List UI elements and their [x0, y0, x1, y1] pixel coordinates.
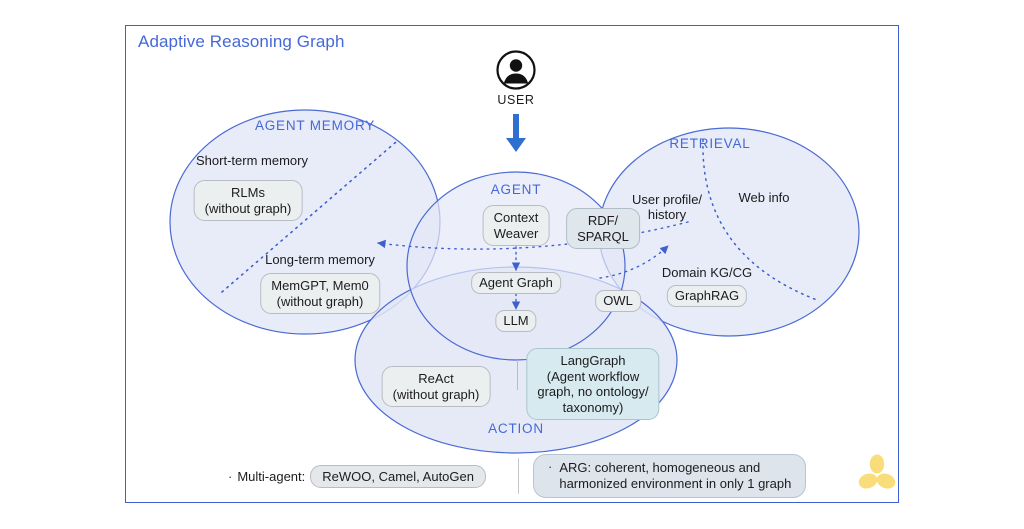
legend-divider: [518, 458, 519, 494]
node-react[interactable]: ReAct (without graph): [382, 366, 491, 407]
set-label-action: ACTION: [488, 421, 544, 436]
user-label: USER: [497, 93, 534, 107]
node-rlms[interactable]: RLMs (without graph): [194, 180, 303, 221]
set-label-agent: AGENT: [491, 182, 542, 197]
node-llm[interactable]: LLM: [495, 310, 536, 332]
legend-multi-agent-items[interactable]: ReWOO, Camel, AutoGen: [310, 465, 486, 488]
legend-multi-agent: · Multi-agent: ReWOO, Camel, AutoGen: [140, 465, 510, 488]
node-owl[interactable]: OWL: [595, 290, 641, 312]
legend-arg: · ARG: coherent, homogeneous and harmoni…: [527, 454, 885, 498]
legend-arg-bullet-icon: ·: [548, 460, 552, 473]
node-agent-graph[interactable]: Agent Graph: [471, 272, 561, 294]
diagram-canvas: Adaptive Reasoning Graph: [0, 0, 1024, 529]
node-langgraph[interactable]: LangGraph (Agent workflow graph, no onto…: [526, 348, 659, 420]
label-domain-kg-cg: Domain KG/CG: [662, 265, 752, 280]
label-short-term-memory: Short-term memory: [196, 153, 308, 168]
legend-bar: · Multi-agent: ReWOO, Camel, AutoGen · A…: [140, 455, 885, 497]
page-title: Adaptive Reasoning Graph: [138, 32, 345, 52]
label-long-term-memory: Long-term memory: [265, 252, 375, 267]
set-label-retrieval: RETRIEVAL: [669, 136, 750, 151]
set-label-agent-memory: AGENT MEMORY: [255, 118, 375, 133]
legend-bullet-icon: ·: [228, 470, 232, 483]
node-context-weaver[interactable]: Context Weaver: [483, 205, 550, 246]
action-node-divider: [517, 360, 518, 390]
trefoil-logo-icon: [855, 452, 899, 496]
legend-arg-text: ARG: coherent, homogeneous and harmonize…: [559, 460, 791, 492]
node-rdf-sparql[interactable]: RDF/ SPARQL: [566, 208, 640, 249]
user-avatar-icon: [496, 50, 536, 90]
label-user-profile-history: User profile/ history: [632, 192, 702, 222]
node-memgpt-mem0[interactable]: MemGPT, Mem0 (without graph): [260, 273, 380, 314]
legend-multi-agent-label: Multi-agent:: [237, 469, 305, 484]
legend-arg-pill[interactable]: · ARG: coherent, homogeneous and harmoni…: [533, 454, 806, 498]
node-graphrag[interactable]: GraphRAG: [667, 285, 747, 307]
label-web-info: Web info: [738, 190, 789, 205]
